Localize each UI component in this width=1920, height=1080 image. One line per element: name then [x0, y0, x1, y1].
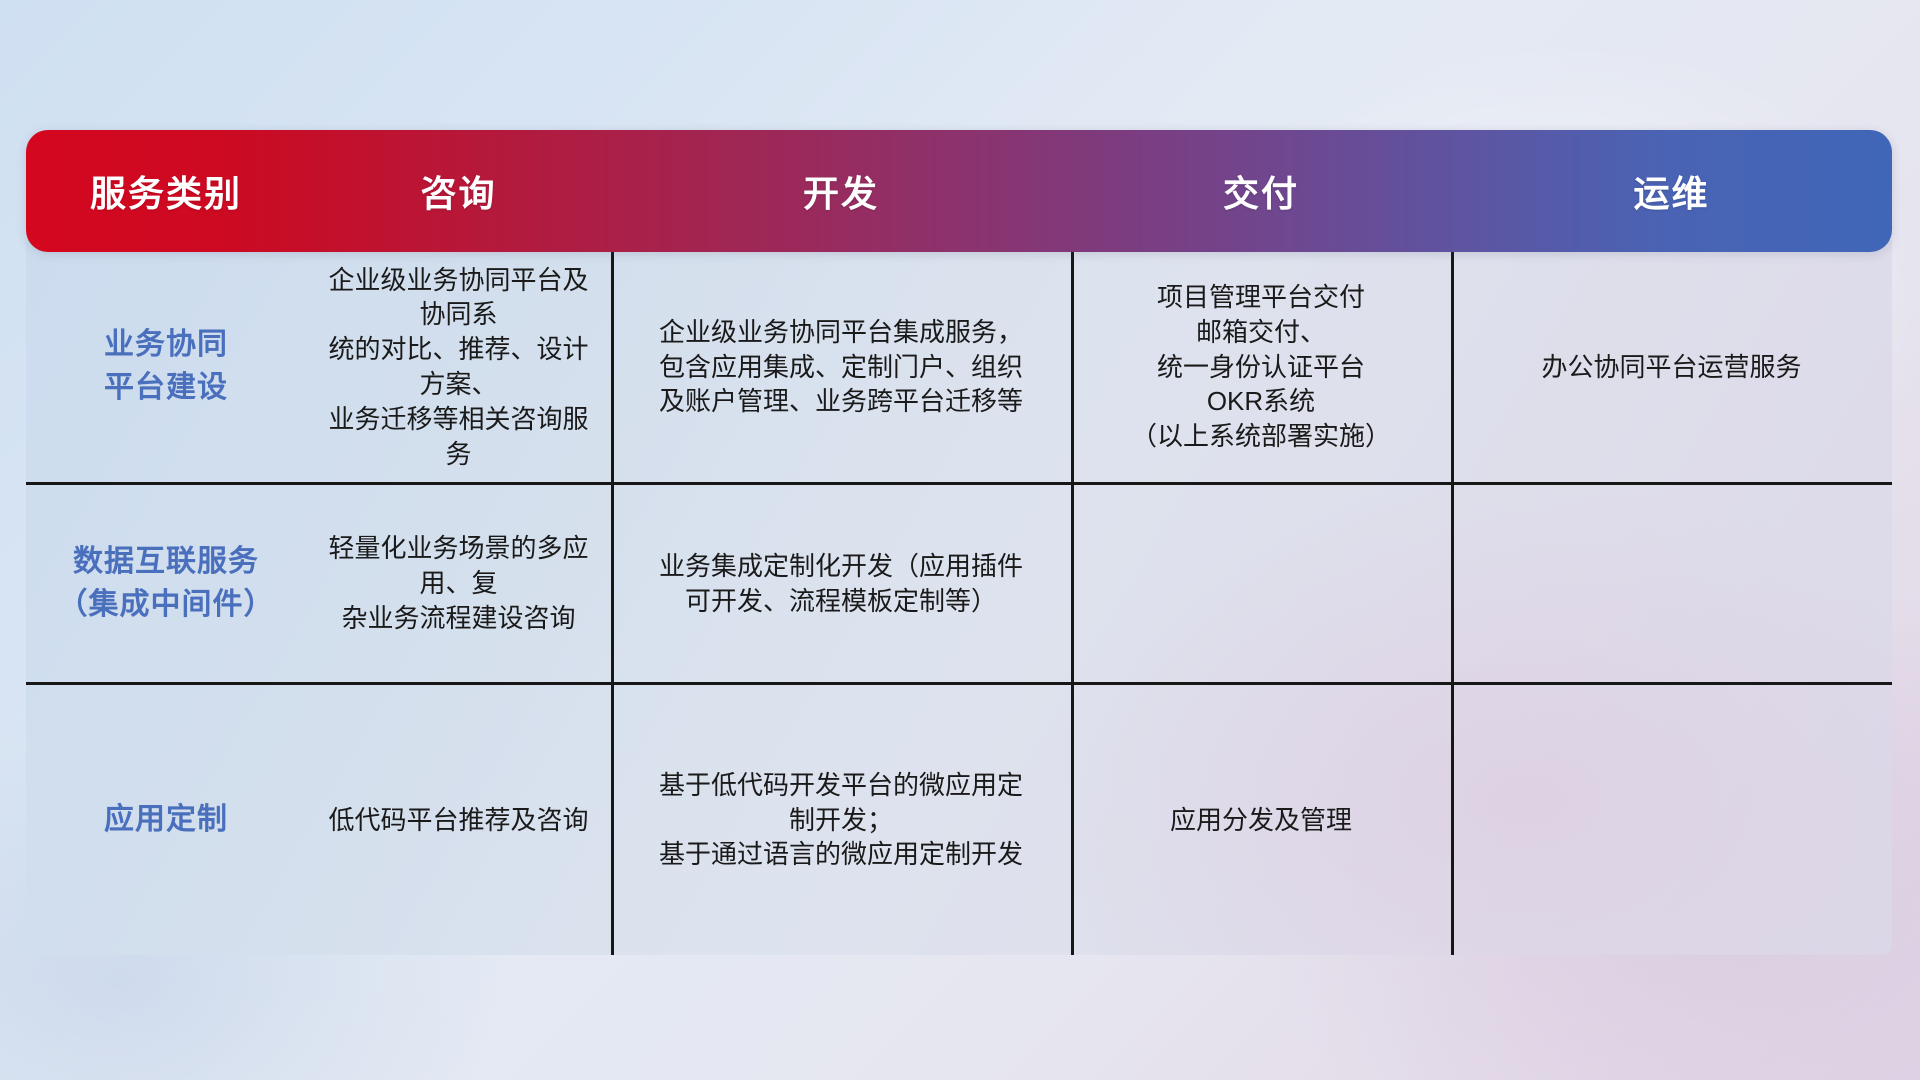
cell-development-text: 基于低代码开发平台的微应用定 制开发； 基于通过语言的微应用定制开发 [659, 768, 1023, 872]
cell-development: 业务集成定制化开发（应用插件 可开发、流程模板定制等） [611, 485, 1071, 682]
table-header-row: 服务类别 咨询 开发 交付 运维 [26, 130, 1892, 252]
table-header-cell-operations: 运维 [1451, 130, 1892, 252]
cell-delivery [1071, 485, 1451, 682]
table-row: 业务协同 平台建设 企业级业务协同平台及协同系 统的对比、推荐、设计方案、 业务… [26, 240, 1892, 482]
cell-development-text: 业务集成定制化开发（应用插件 可开发、流程模板定制等） [659, 549, 1023, 619]
cell-development-text: 企业级业务协同平台集成服务， 包含应用集成、定制门户、组织 及账户管理、业务跨平… [659, 315, 1023, 419]
cell-delivery-text: 项目管理平台交付 邮箱交付、 统一身份认证平台 OKR系统 （以上系统部署实施） [1131, 280, 1391, 454]
cell-consulting-text: 低代码平台推荐及咨询 [328, 803, 588, 838]
table-row: 数据互联服务 （集成中间件） 轻量化业务场景的多应用、复 杂业务流程建设咨询 业… [26, 482, 1892, 682]
cell-development: 基于低代码开发平台的微应用定 制开发； 基于通过语言的微应用定制开发 [611, 685, 1071, 955]
table-header-label-consulting: 咨询 [420, 165, 496, 217]
cell-operations [1451, 485, 1892, 682]
row-label-text: 业务协同 平台建设 [104, 324, 228, 409]
table-header-label-operations: 运维 [1633, 165, 1709, 217]
table-header-cell-category: 服务类别 [26, 130, 306, 252]
row-label-text: 数据互联服务 （集成中间件） [58, 541, 275, 626]
cell-delivery-text: 应用分发及管理 [1170, 803, 1352, 838]
cell-consulting: 轻量化业务场景的多应用、复 杂业务流程建设咨询 [306, 485, 611, 682]
cell-operations: 办公协同平台运营服务 [1451, 252, 1892, 482]
table-body: 业务协同 平台建设 企业级业务协同平台及协同系 统的对比、推荐、设计方案、 业务… [26, 240, 1892, 955]
table-header-cell-consulting: 咨询 [306, 130, 611, 252]
table-header-label-category: 服务类别 [90, 165, 242, 217]
table-header-cell-development: 开发 [611, 130, 1071, 252]
row-label-cell: 业务协同 平台建设 [26, 252, 306, 482]
service-matrix-table: 服务类别 咨询 开发 交付 运维 业务协同 平台建设 [26, 130, 1892, 955]
table-row: 应用定制 低代码平台推荐及咨询 基于低代码开发平台的微应用定 制开发； 基于通过… [26, 682, 1892, 955]
row-label-cell: 应用定制 [26, 685, 306, 955]
row-label-text: 应用定制 [104, 799, 228, 842]
cell-operations [1451, 685, 1892, 955]
cell-development: 企业级业务协同平台集成服务， 包含应用集成、定制门户、组织 及账户管理、业务跨平… [611, 252, 1071, 482]
row-label-cell: 数据互联服务 （集成中间件） [26, 485, 306, 682]
cell-operations-text: 办公协同平台运营服务 [1541, 350, 1801, 385]
cell-consulting-text: 企业级业务协同平台及协同系 统的对比、推荐、设计方案、 业务迁移等相关咨询服务 [322, 263, 595, 472]
cell-delivery: 应用分发及管理 [1071, 685, 1451, 955]
cell-delivery: 项目管理平台交付 邮箱交付、 统一身份认证平台 OKR系统 （以上系统部署实施） [1071, 252, 1451, 482]
table-header-label-delivery: 交付 [1223, 165, 1299, 217]
slide-canvas: 服务类别 咨询 开发 交付 运维 业务协同 平台建设 [0, 0, 1920, 1080]
cell-consulting-text: 轻量化业务场景的多应用、复 杂业务流程建设咨询 [322, 531, 595, 635]
table-header-cell-delivery: 交付 [1071, 130, 1451, 252]
table-header-label-development: 开发 [803, 165, 879, 217]
cell-consulting: 低代码平台推荐及咨询 [306, 685, 611, 955]
cell-consulting: 企业级业务协同平台及协同系 统的对比、推荐、设计方案、 业务迁移等相关咨询服务 [306, 252, 611, 482]
